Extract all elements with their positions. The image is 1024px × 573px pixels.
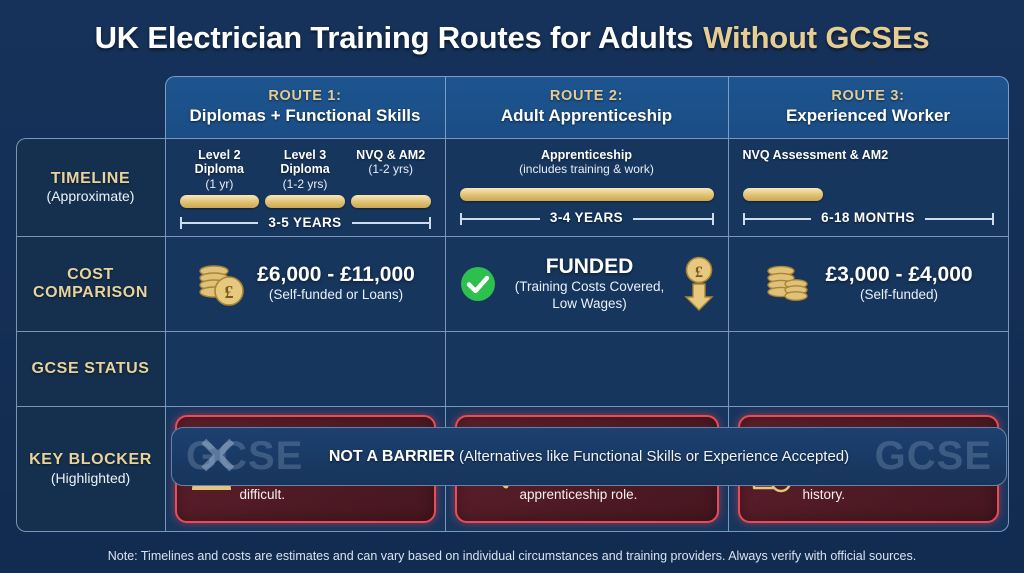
timeline-stage-duration: (1-2 yrs) [283,177,328,191]
row-label-timeline: TIMELINE (Approximate) [16,138,166,237]
timeline-stage-duration: (1 yr) [205,177,233,191]
row-label-timeline-main: TIMELINE [51,170,130,188]
timeline-stages-route-3: NVQ Assessment & AM2 [743,148,994,201]
timeline-total-route-2: 3-4 YEARS [460,208,714,228]
gcse-cell-route-3 [728,331,1009,407]
footer-note: Note: Timelines and costs are estimates … [0,549,1024,563]
row-label-blocker: KEY BLOCKER (Highlighted) [16,406,166,532]
page-title: UK Electrician Training Routes for Adult… [0,0,1024,70]
timeline-stage: NVQ Assessment & AM2 [743,148,994,201]
timeline-stages-route-2: Apprenticeship (includes training & work… [460,148,714,201]
cost-note-route-3: (Self-funded) [825,287,972,303]
title-accent-text: Without GCSEs [703,20,929,56]
timeline-stage-name: NVQ & AM2 [356,148,425,163]
timeline-stage: Apprenticeship (includes training & work… [460,148,714,201]
row-label-cost-main: COST COMPARISON [17,266,165,302]
svg-text:£: £ [695,264,703,281]
gcse-status-detail: (Alternatives like Functional Skills or … [459,448,849,465]
timeline-stage-duration: (1-2 yrs) [368,162,413,176]
timeline-bar [180,195,260,208]
column-header-route-1[interactable]: ROUTE 1: Diplomas + Functional Skills [165,76,446,139]
timeline-total-text: 6-18 MONTHS [811,210,925,225]
pound-coin-down-arrow-icon: £ [682,256,716,312]
row-label-timeline-sub: (Approximate) [47,188,135,204]
timeline-stage-name: Level 2 Diploma [180,148,260,177]
route-3-label: ROUTE 3: [831,88,904,104]
gcse-status-banner: GCSE ✕ GCSE NOT A BARRIER (Alternatives … [171,427,1007,486]
gcse-status-strong: NOT A BARRIER [329,448,455,465]
timeline-cell-route-1: Level 2 Diploma (1 yr) Level 3 Diploma (… [165,138,446,237]
timeline-bar [743,188,823,201]
timeline-stage: Level 2 Diploma (1 yr) [180,148,260,208]
gcse-status-line: NOT A BARRIER (Alternatives like Functio… [329,448,849,466]
timeline-total-text: 3-5 YEARS [258,215,351,230]
route-1-name: Diplomas + Functional Skills [190,106,421,126]
row-label-cost: COST COMPARISON [16,236,166,332]
row-label-blocker-main: KEY BLOCKER [29,451,152,469]
timeline-cell-route-2: Apprenticeship (includes training & work… [445,138,729,237]
column-header-route-3[interactable]: ROUTE 3: Experienced Worker [728,76,1009,139]
coin-stack-icon [763,260,815,308]
timeline-total-route-1: 3-5 YEARS [180,215,431,230]
route-2-label: ROUTE 2: [550,88,623,104]
column-header-route-2[interactable]: ROUTE 2: Adult Apprenticeship [445,76,729,139]
gcse-watermark-right: GCSE [875,434,992,479]
cost-cell-route-1: £ £6,000 - £11,000 (Self-funded or Loans… [165,236,446,332]
row-label-gcse-main: GCSE STATUS [31,360,149,378]
table-corner-blank [16,76,166,139]
timeline-cell-route-3: NVQ Assessment & AM2 6-18 MONTHS [728,138,1009,237]
row-label-blocker-sub: (Highlighted) [51,470,130,486]
cost-cell-route-2: FUNDED (Training Costs Covered, Low Wage… [445,236,729,332]
gcse-cell-route-1 [165,331,446,407]
gcse-cell-route-2 [445,331,729,407]
title-main-text: UK Electrician Training Routes for Adult… [95,20,694,56]
timeline-stages-route-1: Level 2 Diploma (1 yr) Level 3 Diploma (… [180,148,431,208]
timeline-stage-duration: (includes training & work) [519,162,654,176]
infographic-page: UK Electrician Training Routes for Adult… [0,0,1024,573]
timeline-bar [351,195,431,208]
cost-cell-route-3: £3,000 - £4,000 (Self-funded) [728,236,1009,332]
svg-text:£: £ [225,282,234,302]
route-2-name: Adult Apprenticeship [501,106,672,126]
gcse-status-pill: GCSE ✕ GCSE NOT A BARRIER (Alternatives … [171,427,1007,486]
cost-amount-route-1: £6,000 - £11,000 [257,263,415,287]
timeline-total-route-3: 6-18 MONTHS [743,208,994,228]
timeline-stage: Level 3 Diploma (1-2 yrs) [265,148,345,208]
timeline-bar [460,188,714,201]
timeline-stage: NVQ & AM2 (1-2 yrs) [351,148,431,208]
timeline-stage-name: Apprenticeship [541,148,632,163]
timeline-bar [265,195,345,208]
timeline-total-text: 3-4 YEARS [540,210,633,225]
green-check-icon [458,264,498,304]
timeline-stage-name: Level 3 Diploma [265,148,345,177]
cost-amount-route-3: £3,000 - £4,000 [825,263,972,287]
row-label-gcse: GCSE STATUS [16,331,166,407]
timeline-stage-name: NVQ Assessment & AM2 [743,148,889,163]
cost-amount-route-2: FUNDED [508,255,672,279]
route-3-name: Experienced Worker [786,106,950,126]
coin-stack-pound-icon: £ [195,259,247,309]
route-1-label: ROUTE 1: [268,88,341,104]
cost-note-route-1: (Self-funded or Loans) [257,287,415,303]
cross-icon: ✕ [196,427,240,486]
cost-note-route-2: (Training Costs Covered, Low Wages) [508,279,672,311]
